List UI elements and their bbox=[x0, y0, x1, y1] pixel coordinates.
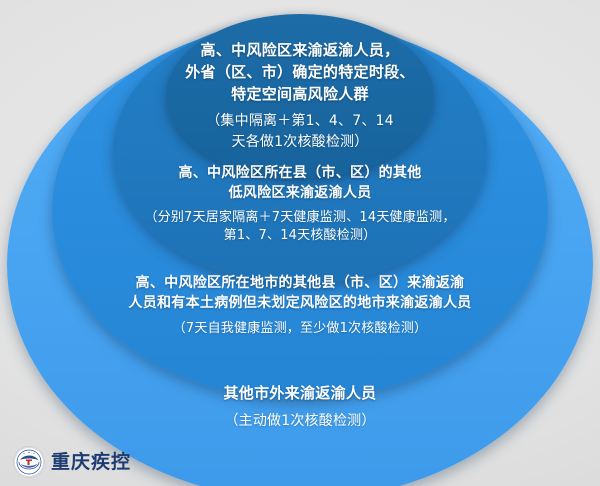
brand-lockup: 重庆疾控 bbox=[14, 447, 131, 477]
infographic-poster: 高、中风险区来渝返渝人员， 外省（区、市）确定的特定时段、 特定空间高风险人群 … bbox=[0, 0, 600, 486]
chongqing-cdc-emblem-icon bbox=[14, 447, 44, 477]
risk-ring-level-1 bbox=[166, 14, 434, 178]
brand-wordmark: 重庆疾控 bbox=[51, 453, 131, 472]
